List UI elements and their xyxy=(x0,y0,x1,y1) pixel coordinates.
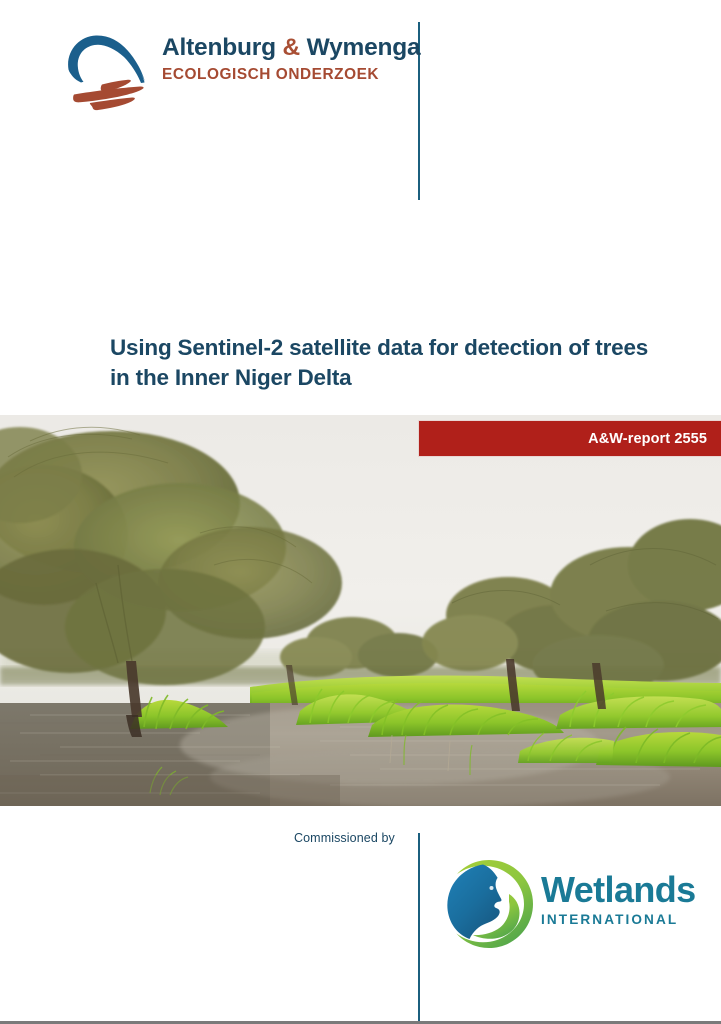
cover-photo xyxy=(0,415,721,806)
publisher-name-part-2: Wymenga xyxy=(300,34,420,61)
publisher-tagline: ECOLOGISCH ONDERZOEK xyxy=(162,66,402,84)
commissioned-by-label: Commissioned by xyxy=(294,831,395,845)
publisher-name-part-1: Altenburg xyxy=(162,34,283,61)
commissioner-logo: Wetlands INTERNATIONAL xyxy=(443,858,693,950)
swoosh-and-reeds-mark-icon xyxy=(62,30,162,112)
publisher-logo-text: Altenburg & Wymenga ECOLOGISCH ONDERZOEK xyxy=(162,34,402,84)
wetlands-globe-face-mark-icon xyxy=(443,858,535,950)
page-title: Using Sentinel-2 satellite data for dete… xyxy=(110,333,650,393)
publisher-name: Altenburg & Wymenga xyxy=(162,34,402,61)
publisher-logo: Altenburg & Wymenga ECOLOGISCH ONDERZOEK xyxy=(62,30,402,112)
bottom-vertical-divider xyxy=(418,833,420,1024)
report-number-label: A&W-report 2555 xyxy=(588,431,721,447)
publisher-ampersand: & xyxy=(283,34,301,61)
status-badge: A&W-report 2555 xyxy=(418,420,721,457)
commissioner-name: Wetlands xyxy=(541,872,696,908)
document-cover-page: Altenburg & Wymenga ECOLOGISCH ONDERZOEK… xyxy=(0,0,721,1024)
commissioner-subtitle: INTERNATIONAL xyxy=(541,912,696,927)
commissioner-logo-text: Wetlands INTERNATIONAL xyxy=(541,872,696,927)
